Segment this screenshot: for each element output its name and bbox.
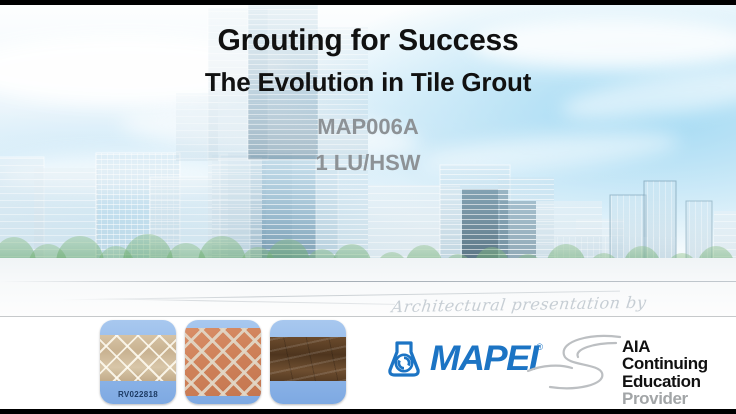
beige-travertine-tile-image xyxy=(100,335,176,381)
tile-thumbnail-2[interactable] xyxy=(185,320,261,404)
decorative-swirl-icon xyxy=(520,331,636,403)
aia-line-1: AIA xyxy=(622,338,708,355)
tile-thumbnail-strip: RV022818 xyxy=(100,320,346,404)
title-block: Grouting for Success The Evolution in Ti… xyxy=(0,0,736,174)
letterbox-bar-bottom xyxy=(0,409,736,414)
dark-wood-plank-tile-image xyxy=(270,337,346,381)
credit-value: 1 LU/HSW xyxy=(0,138,736,174)
slide-footer: RV022818 MAPEI xyxy=(0,316,736,409)
course-code: MAP006A xyxy=(0,95,736,138)
plaza-edge-line xyxy=(0,281,736,282)
aia-line-2: Continuing xyxy=(622,355,708,372)
tile-thumbnail-1[interactable]: RV022818 xyxy=(100,320,176,404)
slide-title-line2: The Evolution in Tile Grout xyxy=(0,56,736,95)
aia-continuing-education-provider-logo: AIA Continuing Education Provider xyxy=(622,338,708,407)
aia-line-3: Education xyxy=(622,373,708,390)
letterbox-bar-top xyxy=(0,0,736,5)
tile-thumbnail-1-label: RV022818 xyxy=(100,390,176,399)
presentation-slide: Architectural presentation by Grouting f… xyxy=(0,0,736,414)
plaza-edge-line xyxy=(95,298,395,305)
tile-thumbnail-3[interactable] xyxy=(270,320,346,404)
aia-line-4: Provider xyxy=(622,390,708,407)
mapei-flask-globe-icon xyxy=(385,339,423,379)
terracotta-diagonal-tile-image xyxy=(185,328,261,396)
slide-title-line1: Grouting for Success xyxy=(0,0,736,56)
